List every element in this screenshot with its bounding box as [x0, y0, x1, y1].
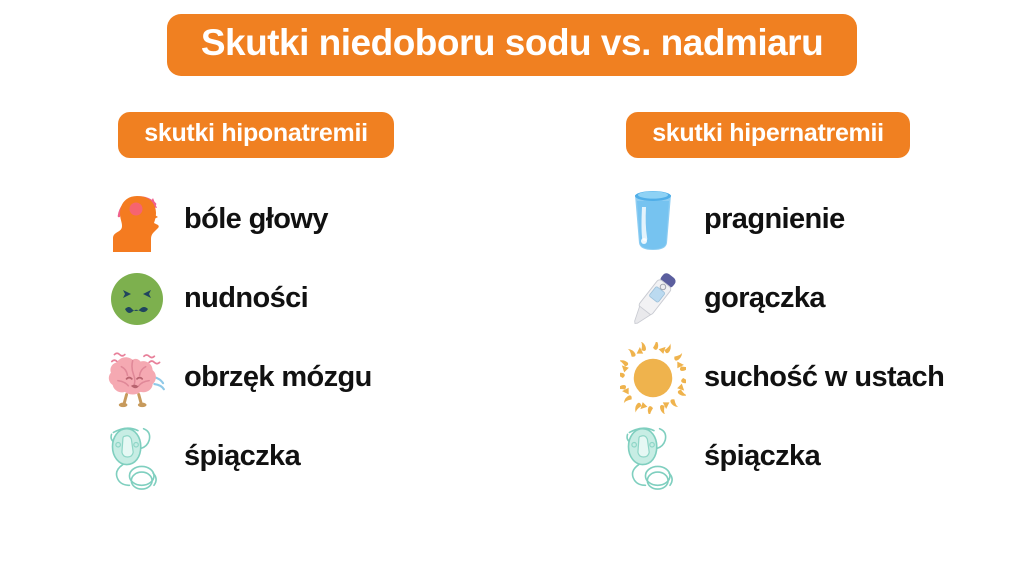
list-item-label: pragnienie [704, 203, 845, 236]
list-item: suchość w ustach [512, 338, 1024, 417]
sun-icon [620, 342, 686, 414]
list-item-label: nudności [184, 282, 308, 315]
list-item-label: śpiączka [704, 440, 820, 473]
column-badge-hipernatremia: skutki hipernatremii [626, 112, 910, 158]
column-badge-hiponatremia: skutki hiponatremii [118, 112, 394, 158]
title-area: Skutki niedoboru sodu vs. nadmiaru [0, 14, 1024, 76]
list-item: nudności [0, 259, 512, 338]
comparison-columns: skutki hiponatremii [0, 112, 1024, 496]
infographic-root: Skutki niedoboru sodu vs. nadmiaru skutk… [0, 0, 1024, 564]
column-hipernatremia: skutki hipernatremii prag [512, 112, 1024, 496]
nauseated-face-icon [104, 263, 170, 335]
list-item: śpiączka [512, 417, 1024, 496]
thermometer-icon [620, 263, 686, 335]
list-item-label: obrzęk mózgu [184, 361, 372, 394]
list-item-label: gorączka [704, 282, 825, 315]
symptom-list-hiponatremia: bóle głowy nudności [0, 180, 512, 496]
list-item-label: bóle głowy [184, 203, 328, 236]
water-glass-icon [620, 184, 686, 256]
list-item-label: suchość w ustach [704, 361, 944, 394]
oxygen-mask-icon [620, 421, 686, 493]
list-item: bóle głowy [0, 180, 512, 259]
swollen-brain-icon [104, 342, 170, 414]
oxygen-mask-icon [104, 421, 170, 493]
symptom-list-hipernatremia: pragnienie [512, 180, 1024, 496]
list-item-label: śpiączka [184, 440, 300, 473]
list-item: gorączka [512, 259, 1024, 338]
list-item: obrzęk mózgu [0, 338, 512, 417]
page-title: Skutki niedoboru sodu vs. nadmiaru [167, 14, 857, 76]
list-item: śpiączka [0, 417, 512, 496]
list-item: pragnienie [512, 180, 1024, 259]
head-pain-icon [104, 184, 170, 256]
column-hiponatremia: skutki hiponatremii [0, 112, 512, 496]
